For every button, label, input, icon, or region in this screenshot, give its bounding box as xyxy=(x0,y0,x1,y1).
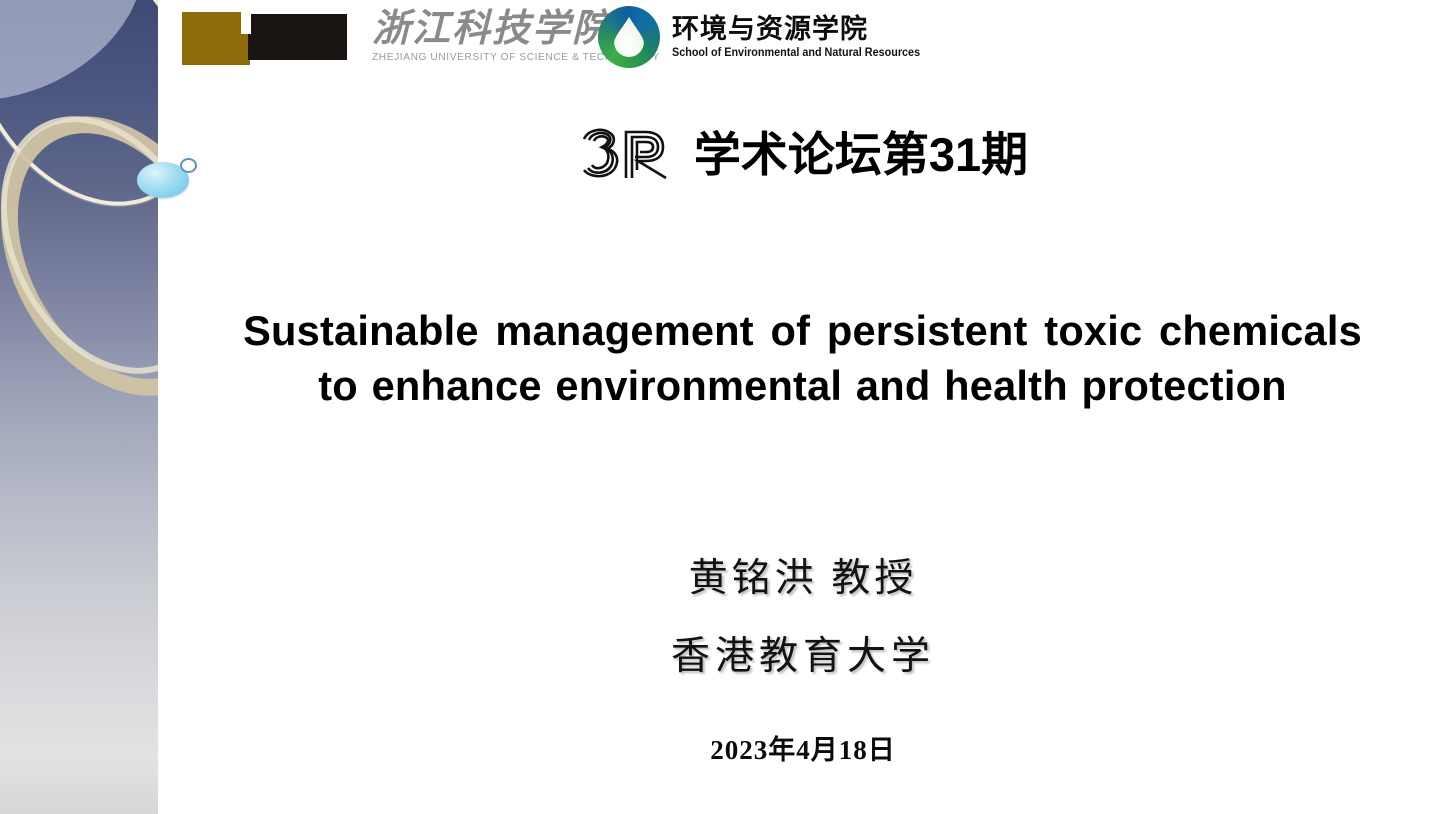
school-logo-text: 环境与资源学院 School of Environmental and Natu… xyxy=(672,14,936,60)
event-date: 2023年4月18日 xyxy=(158,733,1448,767)
zust-black-block xyxy=(248,14,347,60)
zust-logo-text: 浙江科技学院 ZHEJIANG UNIVERSITY OF SCIENCE & … xyxy=(372,8,617,63)
school-logo: 环境与资源学院 School of Environmental and Natu… xyxy=(598,6,936,68)
zust-name-cn: 浙江科技学院 xyxy=(372,8,617,50)
forum-heading: 学术论坛第31期 xyxy=(158,126,1448,184)
talk-title: Sustainable management of persistent tox… xyxy=(186,303,1419,413)
zust-university-logo: 浙江科技学院 ZHEJIANG UNIVERSITY OF SCIENCE & … xyxy=(182,8,347,70)
decorative-sidebar xyxy=(0,0,158,814)
speaker-affiliation: 香港教育大学 xyxy=(158,630,1448,684)
zust-notch xyxy=(241,12,251,34)
3r-logo-icon xyxy=(578,126,676,184)
zust-name-en: ZHEJIANG UNIVERSITY OF SCIENCE & TECHNOL… xyxy=(372,51,610,63)
school-name-cn: 环境与资源学院 xyxy=(672,14,936,44)
talk-title-line2: to enhance environmental and health prot… xyxy=(186,358,1419,413)
speaker-block: 黄铭洪 教授 香港教育大学 xyxy=(158,552,1448,684)
school-name-en: School of Environmental and Natural Reso… xyxy=(672,46,920,60)
presentation-title-slide: 浙江科技学院 ZHEJIANG UNIVERSITY OF SCIENCE & … xyxy=(0,0,1448,814)
speaker-name: 黄铭洪 教授 xyxy=(158,552,1448,606)
talk-title-line1: Sustainable management of persistent tox… xyxy=(186,303,1419,358)
forum-title: 学术论坛第31期 xyxy=(694,127,1028,183)
logo-header: 浙江科技学院 ZHEJIANG UNIVERSITY OF SCIENCE & … xyxy=(158,0,1448,80)
droplet-shape-icon xyxy=(614,17,644,57)
water-droplet-circle-icon xyxy=(598,6,660,68)
zust-gold-block xyxy=(182,12,250,65)
zust-logo-mark-icon xyxy=(182,8,347,66)
